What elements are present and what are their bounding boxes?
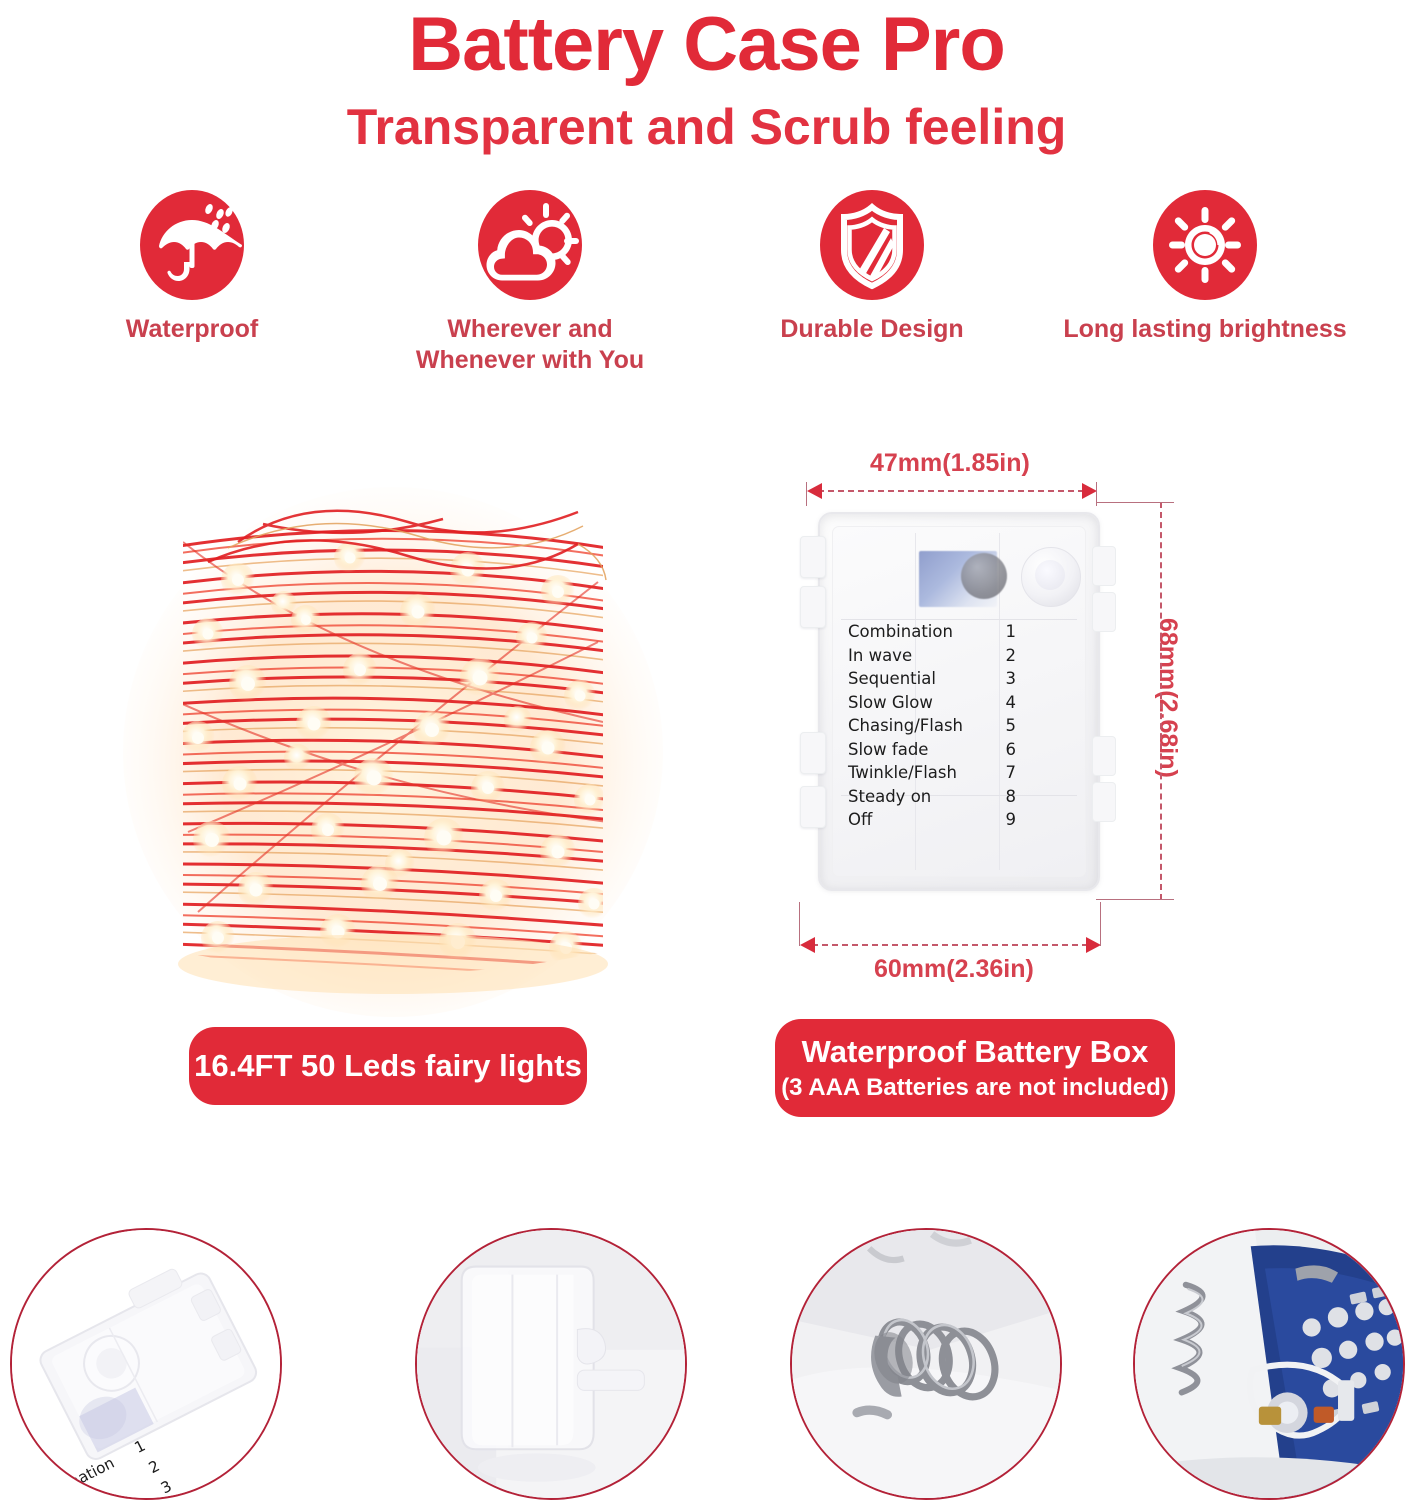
mode-name: Chasing/Flash bbox=[848, 714, 963, 738]
feature-brightness: Long lasting brightness bbox=[1040, 190, 1370, 345]
mode-number: 2 bbox=[1006, 644, 1017, 668]
mode-number: 5 bbox=[1006, 714, 1017, 738]
dim-arrow-left bbox=[807, 483, 822, 499]
feature-label: Long lasting brightness bbox=[1040, 314, 1370, 345]
feature-portability: Wherever and Whenever with You bbox=[400, 190, 660, 376]
battery-box-angled-photo: ination 1 2 3 bbox=[10, 1228, 282, 1500]
mode-name: Combination bbox=[848, 620, 953, 644]
detail-circle-circuit bbox=[1133, 1228, 1405, 1500]
mode-row: Slow fade 6 bbox=[848, 738, 1016, 762]
circuit-board-led-photo bbox=[1133, 1228, 1405, 1500]
battery-spring-contact-photo bbox=[790, 1228, 1062, 1500]
dim-arrow-left-2 bbox=[800, 937, 815, 953]
detail-circle-battery-box: ination 1 2 3 bbox=[10, 1228, 282, 1500]
feature-waterproof: Waterproof bbox=[72, 190, 312, 345]
fairy-lights-photo bbox=[88, 452, 698, 1032]
detail-circle-spring bbox=[790, 1228, 1062, 1500]
mode-number: 4 bbox=[1006, 691, 1017, 715]
battery-box-diagram: 47mm(1.85in) 68mm(2.68in) 60mm(2.36in) bbox=[770, 440, 1220, 1020]
umbrella-rain-icon bbox=[140, 190, 244, 300]
feature-label: Waterproof bbox=[72, 314, 312, 345]
box-clip bbox=[1092, 782, 1116, 822]
mode-name: Slow fade bbox=[848, 738, 928, 762]
mode-row: Twinkle/Flash 7 bbox=[848, 761, 1016, 785]
mode-list: Combination 1 In wave 2 Sequential 3 Slo… bbox=[848, 620, 1016, 832]
mode-number: 6 bbox=[1006, 738, 1017, 762]
dim-depth-label: 60mm(2.36in) bbox=[874, 955, 1034, 984]
badge-line-1: Waterproof Battery Box bbox=[802, 1033, 1149, 1071]
box-clip bbox=[800, 586, 826, 628]
mode-name: Twinkle/Flash bbox=[848, 761, 957, 785]
dim-arrow-right bbox=[1082, 483, 1097, 499]
mode-number: 7 bbox=[1006, 761, 1017, 785]
mode-number: 1 bbox=[1006, 620, 1017, 644]
fairy-lights-badge: 16.4FT 50 Leds fairy lights bbox=[189, 1027, 587, 1105]
mode-button bbox=[961, 553, 1007, 599]
feature-durable: Durable Design bbox=[748, 190, 996, 345]
mode-name: In wave bbox=[848, 644, 912, 668]
mode-name: Steady on bbox=[848, 785, 931, 809]
mode-row: Chasing/Flash 5 bbox=[848, 714, 1016, 738]
infographic-page: Battery Case Pro Transparent and Scrub f… bbox=[0, 0, 1413, 1500]
mode-row: In wave 2 bbox=[848, 644, 1016, 668]
mode-row: Combination 1 bbox=[848, 620, 1016, 644]
dim-height-line bbox=[1160, 502, 1162, 900]
dim-depth-line bbox=[812, 944, 1098, 946]
box-clip bbox=[800, 536, 826, 578]
cloud-sun-icon bbox=[478, 190, 582, 300]
mode-number: 3 bbox=[1006, 667, 1017, 691]
box-clip bbox=[1092, 592, 1116, 632]
mode-name: Off bbox=[848, 808, 872, 832]
waterproof-button-cover bbox=[1021, 547, 1081, 607]
mode-name: Sequential bbox=[848, 667, 936, 691]
page-title: Battery Case Pro bbox=[0, 2, 1413, 88]
dim-height-label: 68mm(2.68in) bbox=[1153, 618, 1182, 778]
box-clip bbox=[800, 786, 826, 828]
mode-number: 8 bbox=[1006, 785, 1017, 809]
mode-number: 9 bbox=[1006, 808, 1017, 832]
mode-row: Off 9 bbox=[848, 808, 1016, 832]
dim-width-line bbox=[818, 490, 1094, 492]
box-clip bbox=[800, 732, 826, 774]
waterproof-clip-photo bbox=[415, 1228, 687, 1500]
box-clip bbox=[1092, 546, 1116, 586]
sun-brightness-icon bbox=[1153, 190, 1257, 300]
dim-arrow-right-2 bbox=[1086, 937, 1101, 953]
badge-line-2: (3 AAA Batteries are not included) bbox=[781, 1073, 1169, 1103]
badge-line-1: 16.4FT 50 Leds fairy lights bbox=[194, 1047, 582, 1085]
shield-icon bbox=[820, 190, 924, 300]
feature-label: Wherever and Whenever with You bbox=[400, 314, 660, 376]
feature-row: Waterproof Wherever and bbox=[0, 190, 1413, 390]
detail-circle-clip bbox=[415, 1228, 687, 1500]
mode-row: Steady on 8 bbox=[848, 785, 1016, 809]
battery-box-badge: Waterproof Battery Box (3 AAA Batteries … bbox=[775, 1019, 1175, 1117]
mode-row: Slow Glow 4 bbox=[848, 691, 1016, 715]
page-subtitle: Transparent and Scrub feeling bbox=[0, 97, 1413, 157]
box-clip bbox=[1092, 736, 1116, 776]
dim-width-label: 47mm(1.85in) bbox=[870, 449, 1030, 478]
feature-label: Durable Design bbox=[748, 314, 996, 345]
mode-name: Slow Glow bbox=[848, 691, 933, 715]
mode-row: Sequential 3 bbox=[848, 667, 1016, 691]
